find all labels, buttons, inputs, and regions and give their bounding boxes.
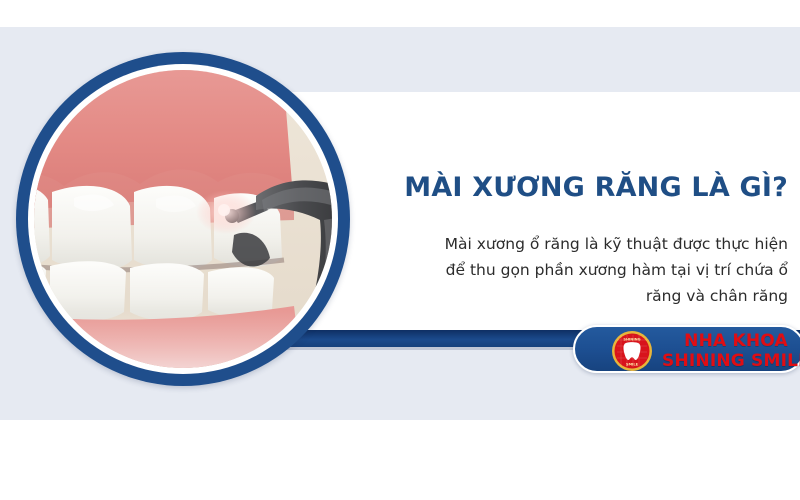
logo-mark-bottom-text: SMILE — [626, 363, 639, 367]
logo-mark-top-text: SHINING — [623, 338, 640, 342]
description-line-1: Mài xương ổ răng là kỹ thuật được thực h… — [396, 231, 788, 257]
infographic-canvas: MÀI XƯƠNG RĂNG LÀ GÌ? Mài xương ổ răng l… — [0, 0, 800, 500]
description-line-3: răng và chân răng — [396, 283, 788, 309]
tooth-logo-icon: SHINING SMILE — [611, 330, 653, 372]
brand-name-line-1: NHA KHOA — [661, 331, 800, 351]
description-line-2: để thu gọn phần xương hàm tại vị trí chứ… — [396, 257, 788, 283]
photo-ring — [16, 52, 350, 386]
brand-badge: SHINING SMILE NHA KHOA SHINING SMILE — [573, 325, 800, 373]
brand-name-line-2: SHINING SMILE — [661, 351, 800, 371]
brand-name: NHA KHOA SHINING SMILE — [661, 331, 800, 371]
teeth-illustration-icon — [34, 70, 332, 368]
description-text: Mài xương ổ răng là kỹ thuật được thực h… — [396, 231, 788, 309]
dental-teeth-photo — [34, 70, 332, 368]
page-title: MÀI XƯƠNG RĂNG LÀ GÌ? — [396, 172, 788, 204]
